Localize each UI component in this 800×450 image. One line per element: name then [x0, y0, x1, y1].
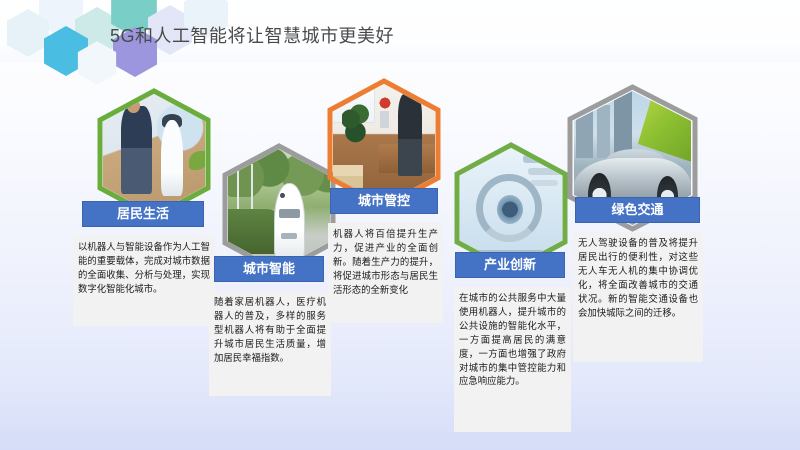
- card-text-green-transport: 无人驾驶设备的普及将提升居民出行的便利性，对这些无人车无人机的集中协调优化，将全…: [573, 232, 703, 362]
- card-green-transport[interactable]: 绿色交通 无人驾驶设备的普及将提升居民出行的便利性，对这些无人车无人机的集中协调…: [565, 84, 700, 232]
- card-text-city-management: 机器人将百倍提升生产力，促进产业的全面创新。随着生产力的提升，将促进城市形态与居…: [328, 223, 443, 323]
- card-text-city-intelligence: 随着家居机器人，医疗机器人的普及，多样的服务型机器人将有助于全面提升城市居民生活…: [209, 291, 331, 396]
- card-label-resident-life[interactable]: 居民生活: [82, 201, 204, 227]
- card-industry-innovation[interactable]: 产业创新 在城市的公共服务中大量使用机器人，提升城市的公共设施的智能化水平，一方…: [452, 142, 570, 274]
- card-label-city-management[interactable]: 城市管控: [330, 188, 438, 214]
- slide-header: 5G和人工智能将让智慧城市更美好: [0, 0, 800, 62]
- card-label-industry-innovation[interactable]: 产业创新: [455, 252, 565, 278]
- card-city-intelligence[interactable]: 城市智能 随着家居机器人，医疗机器人的普及，多样的服务型机器人将有助于全面提升城…: [220, 143, 338, 275]
- card-resident-life[interactable]: 居民生活 以机器人与智能设备作为人工智能的重要载体，完成对城市数据的全面收集、分…: [95, 88, 213, 220]
- page-title: 5G和人工智能将让智慧城市更美好: [110, 22, 394, 48]
- card-city-management[interactable]: 城市管控 机器人将百倍提升生产力，促进产业的全面创新。随着生产力的提升，将促进城…: [325, 78, 443, 210]
- card-label-city-intelligence[interactable]: 城市智能: [214, 256, 324, 282]
- card-text-industry-innovation: 在城市的公共服务中大量使用机器人，提升城市的公共设施的智能化水平，一方面提高居民…: [454, 287, 571, 432]
- card-label-green-transport[interactable]: 绿色交通: [575, 197, 700, 223]
- card-text-resident-life: 以机器人与智能设备作为人工智能的重要载体，完成对城市数据的全面收集、分析与处理，…: [73, 236, 215, 326]
